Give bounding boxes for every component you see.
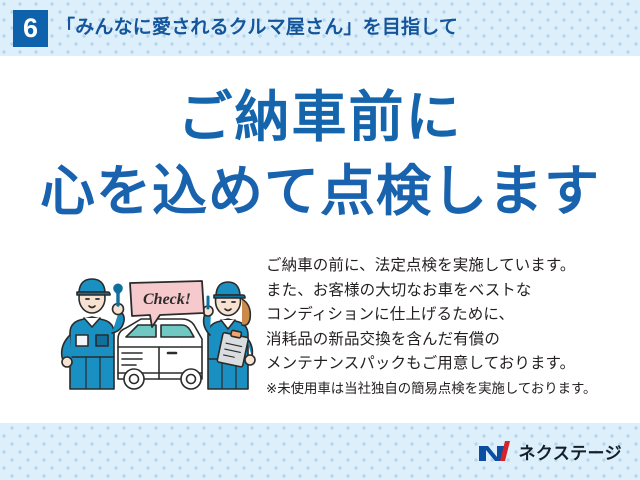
content-panel: ご納車前に 心を込めて点検します	[0, 56, 640, 423]
promo-banner: 6 「みんなに愛されるクルマ屋さん」を目指して ご納車前に 心を込めて点検します	[0, 0, 640, 480]
female-mechanic-figure	[203, 282, 255, 389]
body-line: メンテナンスパックもご用意しております。	[266, 352, 626, 377]
page-title-line1: ご納車前に	[177, 86, 462, 148]
body-line: ご納車の前に、法定点検を実施しています。	[266, 254, 626, 279]
page-title-line2: 心を込めて点検します	[0, 154, 640, 228]
male-mechanic-figure	[62, 279, 124, 389]
footer: ネクステージ	[0, 423, 640, 480]
nextage-n-mark-icon	[477, 439, 511, 464]
section-number-badge: 6	[13, 10, 48, 47]
header-title: 「みんなに愛されるクルマ屋さん」を目指して	[56, 13, 458, 43]
nextage-logo-text: ネクステージ	[518, 439, 622, 464]
mechanics-illustration: Check!	[56, 261, 261, 396]
page-title: ご納車前に 心を込めて点検します	[0, 80, 640, 228]
body-copy: ご納車の前に、法定点検を実施しています。 また、お客様の大切なお車をベストな コ…	[266, 254, 626, 402]
body-note: ※未使用車は当社独自の簡易点検を実施しております。	[266, 377, 626, 402]
header: 6 「みんなに愛されるクルマ屋さん」を目指して	[0, 0, 640, 56]
van-icon	[118, 319, 202, 389]
body-line: また、お客様の大切なお車をベストな	[266, 279, 626, 304]
mechanics-illustration-svg: Check!	[56, 261, 261, 396]
body-line: コンディションに仕上げるために、	[266, 303, 626, 328]
body-line: 消耗品の新品交換を含んだ有償の	[266, 328, 626, 353]
nextage-logo: ネクステージ	[477, 437, 622, 465]
check-bubble-text: Check!	[143, 291, 191, 308]
